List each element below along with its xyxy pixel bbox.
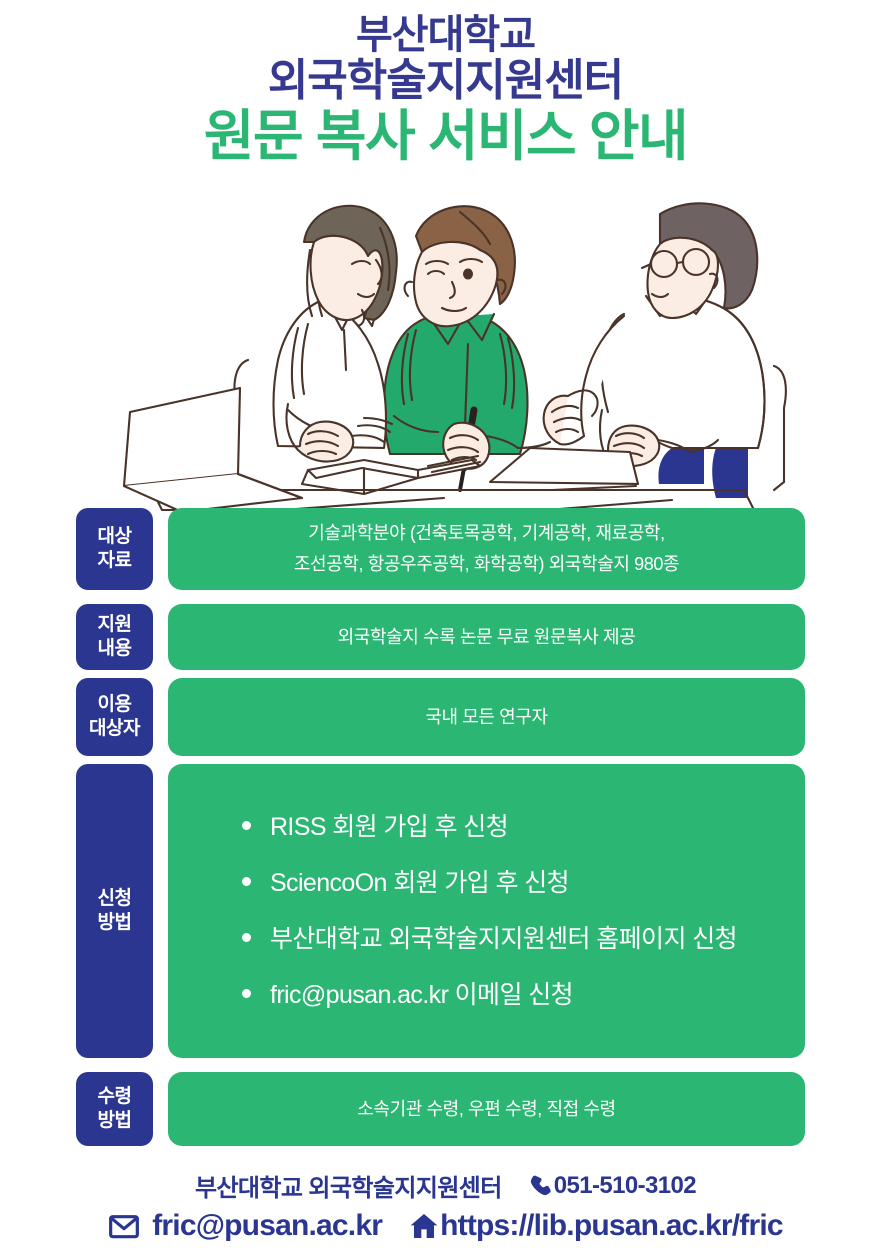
title-line-1: 부산대학교 [0, 14, 891, 56]
row-label-line: 신청 [98, 887, 132, 911]
row-label-support-content: 지원 내용 [76, 604, 153, 670]
title-line-3: 원문 복사 서비스 안내 [0, 108, 891, 166]
footer-email[interactable]: fric@pusan.ac.kr [152, 1209, 382, 1243]
phone-icon [528, 1173, 554, 1199]
info-row-support-content: 지원 내용 외국학술지 수록 논문 무료 원문복사 제공 [0, 604, 891, 670]
row-content-receipt-method: 소속기관 수령, 우편 수령, 직접 수령 [168, 1072, 805, 1146]
row-label-line: 수령 [98, 1085, 132, 1109]
row-label-line: 대상자 [89, 717, 140, 741]
meeting-illustration [112, 198, 792, 516]
poster-title: 부산대학교 외국학술지지원센터 원문 복사 서비스 안내 [0, 14, 891, 166]
application-method-list: RISS 회원 가입 후 신청 SciencoOn 회원 가입 후 신청 부산대… [236, 812, 737, 1010]
footer-website[interactable]: https://lib.pusan.ac.kr/fric [440, 1209, 783, 1243]
list-item: RISS 회원 가입 후 신청 [236, 812, 737, 842]
info-row-receipt-method: 수령 방법 소속기관 수령, 우편 수령, 직접 수령 [0, 1072, 891, 1146]
row-content-application-method: RISS 회원 가입 후 신청 SciencoOn 회원 가입 후 신청 부산대… [168, 764, 805, 1058]
list-item: 부산대학교 외국학술지지원센터 홈페이지 신청 [236, 924, 737, 954]
envelope-icon [108, 1210, 140, 1242]
list-item: SciencoOn 회원 가입 후 신청 [236, 868, 737, 898]
row-content-line: 조선공학, 항공우주공학, 화학공학) 외국학술지 980종 [294, 549, 679, 580]
info-row-target-material: 대상 자료 기술과학분야 (건축토목공학, 기계공학, 재료공학, 조선공학, … [0, 508, 891, 590]
row-label-application-method: 신청 방법 [76, 764, 153, 1058]
row-label-receipt-method: 수령 방법 [76, 1072, 153, 1146]
row-label-line: 내용 [98, 637, 132, 661]
row-label-line: 자료 [98, 549, 132, 573]
footer-line-org-phone: 부산대학교 외국학술지지원센터 051-510-3102 [0, 1168, 891, 1203]
row-content-line: 기술과학분야 (건축토목공학, 기계공학, 재료공학, [294, 518, 679, 549]
home-icon [408, 1210, 440, 1242]
row-label-line: 이용 [89, 693, 140, 717]
title-line-2: 외국학술지지원센터 [0, 58, 891, 104]
row-label-line: 방법 [98, 1109, 132, 1133]
row-label-line: 대상 [98, 525, 132, 549]
footer-phone-number[interactable]: 051-510-3102 [554, 1172, 696, 1200]
row-content-support-content: 외국학술지 수록 논문 무료 원문복사 제공 [168, 604, 805, 670]
row-content-eligible-users: 국내 모든 연구자 [168, 678, 805, 756]
footer-org-name: 부산대학교 외국학술지지원센터 [195, 1168, 502, 1203]
row-label-target-material: 대상 자료 [76, 508, 153, 590]
list-item: fric@pusan.ac.kr 이메일 신청 [236, 980, 737, 1010]
poster-root: 부산대학교 외국학술지지원센터 원문 복사 서비스 안내 [0, 0, 891, 1260]
row-content-line: 소속기관 수령, 우편 수령, 직접 수령 [357, 1094, 615, 1125]
row-label-line: 방법 [98, 911, 132, 935]
row-content-line: 국내 모든 연구자 [425, 702, 547, 733]
footer-line-email-web: fric@pusan.ac.kr https://lib.pusan.ac.kr… [0, 1209, 891, 1243]
footer-contact: 부산대학교 외국학술지지원센터 051-510-3102 fric@pusan.… [0, 1168, 891, 1243]
row-content-target-material: 기술과학분야 (건축토목공학, 기계공학, 재료공학, 조선공학, 항공우주공학… [168, 508, 805, 590]
row-label-eligible-users: 이용 대상자 [76, 678, 153, 756]
info-row-application-method: 신청 방법 RISS 회원 가입 후 신청 SciencoOn 회원 가입 후 … [0, 764, 891, 1058]
info-row-eligible-users: 이용 대상자 국내 모든 연구자 [0, 678, 891, 756]
row-content-line: 외국학술지 수록 논문 무료 원문복사 제공 [338, 622, 636, 653]
row-label-line: 지원 [98, 613, 132, 637]
